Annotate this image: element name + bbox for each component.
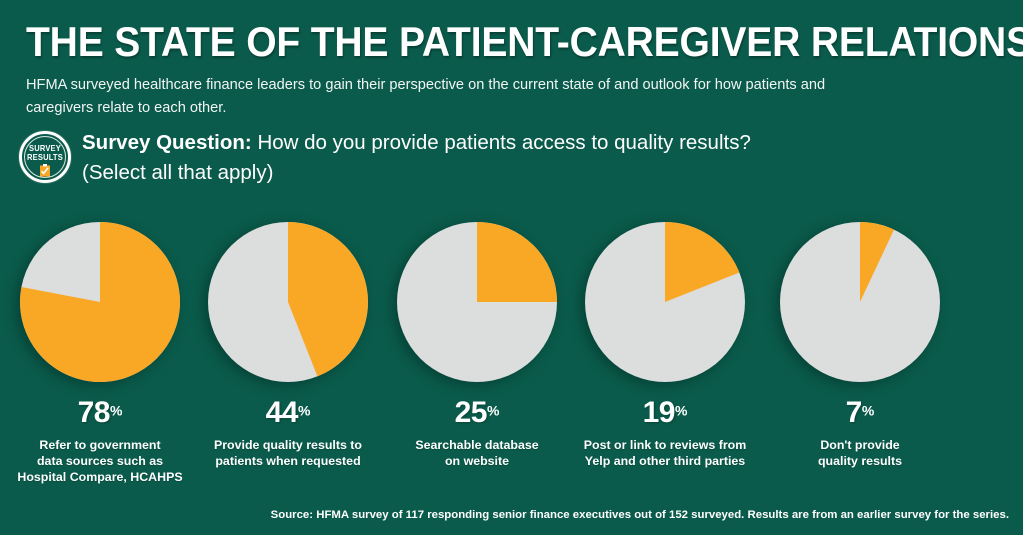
pie-cell-1: 44% Provide quality results to patients … xyxy=(188,222,388,469)
pie-percent-symbol-1: % xyxy=(298,403,310,419)
pie-caption-line: Don't provide xyxy=(766,437,954,453)
pie-chart-4 xyxy=(780,222,940,382)
pie-percent-value-4: 7 xyxy=(846,396,862,429)
pie-caption-line: Searchable database xyxy=(383,437,571,453)
pie-caption-line: Provide quality results to xyxy=(194,437,382,453)
badge-line-2: RESULTS xyxy=(21,153,69,162)
pie-percent-symbol-2: % xyxy=(487,403,499,419)
pie-percent-value-2: 25 xyxy=(455,396,487,429)
pie-cell-4: 7% Don't provide quality results xyxy=(760,222,960,469)
pie-caption-4: Don't provide quality results xyxy=(760,437,960,469)
pie-cell-0: 78% Refer to government data sources suc… xyxy=(0,222,200,485)
pie-caption-line: Post or link to reviews from xyxy=(571,437,759,453)
pie-percent-symbol-3: % xyxy=(675,403,687,419)
pie-percent-value-3: 19 xyxy=(643,396,675,429)
pie-stat-0: 78% xyxy=(0,398,200,428)
pie-wrap-0 xyxy=(20,222,180,382)
pie-caption-line: Yelp and other third parties xyxy=(571,453,759,469)
pie-caption-line: on website xyxy=(383,453,571,469)
pie-chart-3 xyxy=(585,222,745,382)
pie-caption-line: quality results xyxy=(766,453,954,469)
pie-stat-3: 19% xyxy=(565,398,765,428)
pie-percent-value-1: 44 xyxy=(266,396,298,429)
survey-question-label: Survey Question: xyxy=(82,131,252,154)
pie-cell-2: 25% Searchable database on website xyxy=(377,222,577,469)
pie-caption-line: Hospital Compare, HCAHPS xyxy=(6,469,194,485)
survey-question: Survey Question: How do you provide pati… xyxy=(82,128,982,188)
pie-caption-line: patients when requested xyxy=(194,453,382,469)
pie-percent-symbol-4: % xyxy=(862,403,874,419)
pie-caption-3: Post or link to reviews from Yelp and ot… xyxy=(565,437,765,469)
pie-caption-1: Provide quality results to patients when… xyxy=(188,437,388,469)
pie-stat-1: 44% xyxy=(188,398,388,428)
pie-wrap-1 xyxy=(208,222,368,382)
pie-caption-line: data sources such as xyxy=(6,453,194,469)
clipboard-check-icon xyxy=(39,164,51,177)
pie-caption-2: Searchable database on website xyxy=(377,437,577,469)
page-subtitle: HFMA surveyed healthcare finance leaders… xyxy=(26,74,856,120)
pie-caption-0: Refer to government data sources such as… xyxy=(0,437,200,485)
survey-question-text: How do you provide patients access to qu… xyxy=(252,131,751,154)
badge-line-1: SURVEY xyxy=(21,144,69,153)
pie-cell-3: 19% Post or link to reviews from Yelp an… xyxy=(565,222,765,469)
pie-wrap-2 xyxy=(397,222,557,382)
page-title: THE STATE OF THE PATIENT-CAREGIVER RELAT… xyxy=(26,20,919,64)
pie-percent-value-0: 78 xyxy=(78,396,110,429)
pie-chart-0 xyxy=(20,222,180,382)
pie-caption-line: Refer to government xyxy=(6,437,194,453)
pie-wrap-4 xyxy=(780,222,940,382)
pie-chart-row: 78% Refer to government data sources suc… xyxy=(0,222,1023,477)
pie-chart-1 xyxy=(208,222,368,382)
survey-results-badge: SURVEY RESULTS xyxy=(19,131,71,183)
pie-wrap-3 xyxy=(585,222,745,382)
pie-stat-2: 25% xyxy=(377,398,577,428)
pie-stat-4: 7% xyxy=(760,398,960,428)
survey-question-sub: (Select all that apply) xyxy=(82,158,982,188)
source-note: Source: HFMA survey of 117 responding se… xyxy=(0,508,1009,523)
pie-chart-2 xyxy=(397,222,557,382)
pie-percent-symbol-0: % xyxy=(110,403,122,419)
infographic-root: THE STATE OF THE PATIENT-CAREGIVER RELAT… xyxy=(0,0,1023,535)
